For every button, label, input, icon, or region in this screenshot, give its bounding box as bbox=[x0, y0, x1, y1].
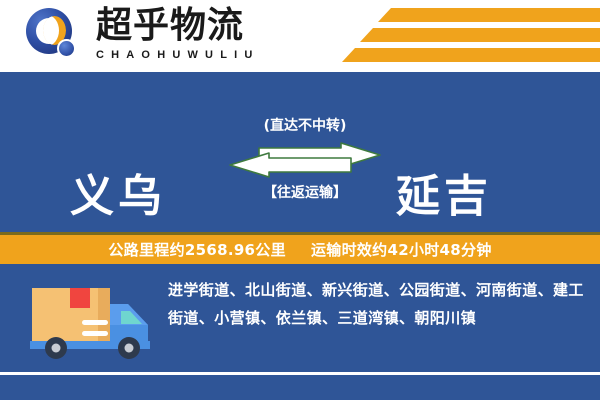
coverage-areas-text: 进学街道、北山街道、新兴街道、公园街道、河南街道、建工街道、小营镇、依兰镇、三道… bbox=[168, 276, 586, 332]
stripe-top bbox=[378, 8, 600, 22]
origin-city: 义乌 bbox=[70, 160, 166, 224]
stats-bar: 公路里程约2568.96公里 运输时效约42小时48分钟 bbox=[0, 235, 600, 264]
circle-q-logo-icon bbox=[26, 8, 84, 66]
delivery-truck-icon bbox=[26, 278, 154, 362]
destination-city: 延吉 bbox=[396, 160, 492, 224]
route-section: 义乌 (直达不中转) 【往返运输】 延吉 bbox=[0, 72, 600, 232]
brand-block: 超乎物流 CHAOHUWULIU bbox=[96, 6, 260, 63]
stats-text-group: 公路里程约2568.96公里 运输时效约42小时48分钟 bbox=[108, 239, 491, 260]
header-stripes-decoration bbox=[340, 6, 600, 66]
logistics-route-poster: 超乎物流 CHAOHUWULIU 义乌 (直达不中转) 【往返运输】 延吉 bbox=[0, 0, 600, 400]
stripe-bottom bbox=[342, 48, 600, 62]
header-bar: 超乎物流 CHAOHUWULIU bbox=[0, 0, 600, 72]
logo-accent-dot bbox=[57, 39, 76, 58]
duration-value: 运输时效约42小时48分钟 bbox=[311, 241, 492, 259]
route-note-roundtrip: 【往返运输】 bbox=[225, 184, 385, 202]
company-name-en: CHAOHUWULIU bbox=[96, 47, 260, 63]
coverage-section: 进学街道、北山街道、新兴街道、公园街道、河南街道、建工街道、小营镇、依兰镇、三道… bbox=[0, 264, 600, 372]
distance-value: 公路里程约2568.96公里 bbox=[108, 241, 286, 259]
stripe-middle bbox=[360, 28, 600, 42]
double-headed-arrow-icon bbox=[229, 142, 381, 178]
route-note-direct: (直达不中转) bbox=[225, 117, 385, 135]
footer-band bbox=[0, 375, 600, 400]
company-name-cn: 超乎物流 bbox=[96, 6, 260, 46]
route-arrow-zone: (直达不中转) 【往返运输】 bbox=[225, 117, 385, 227]
